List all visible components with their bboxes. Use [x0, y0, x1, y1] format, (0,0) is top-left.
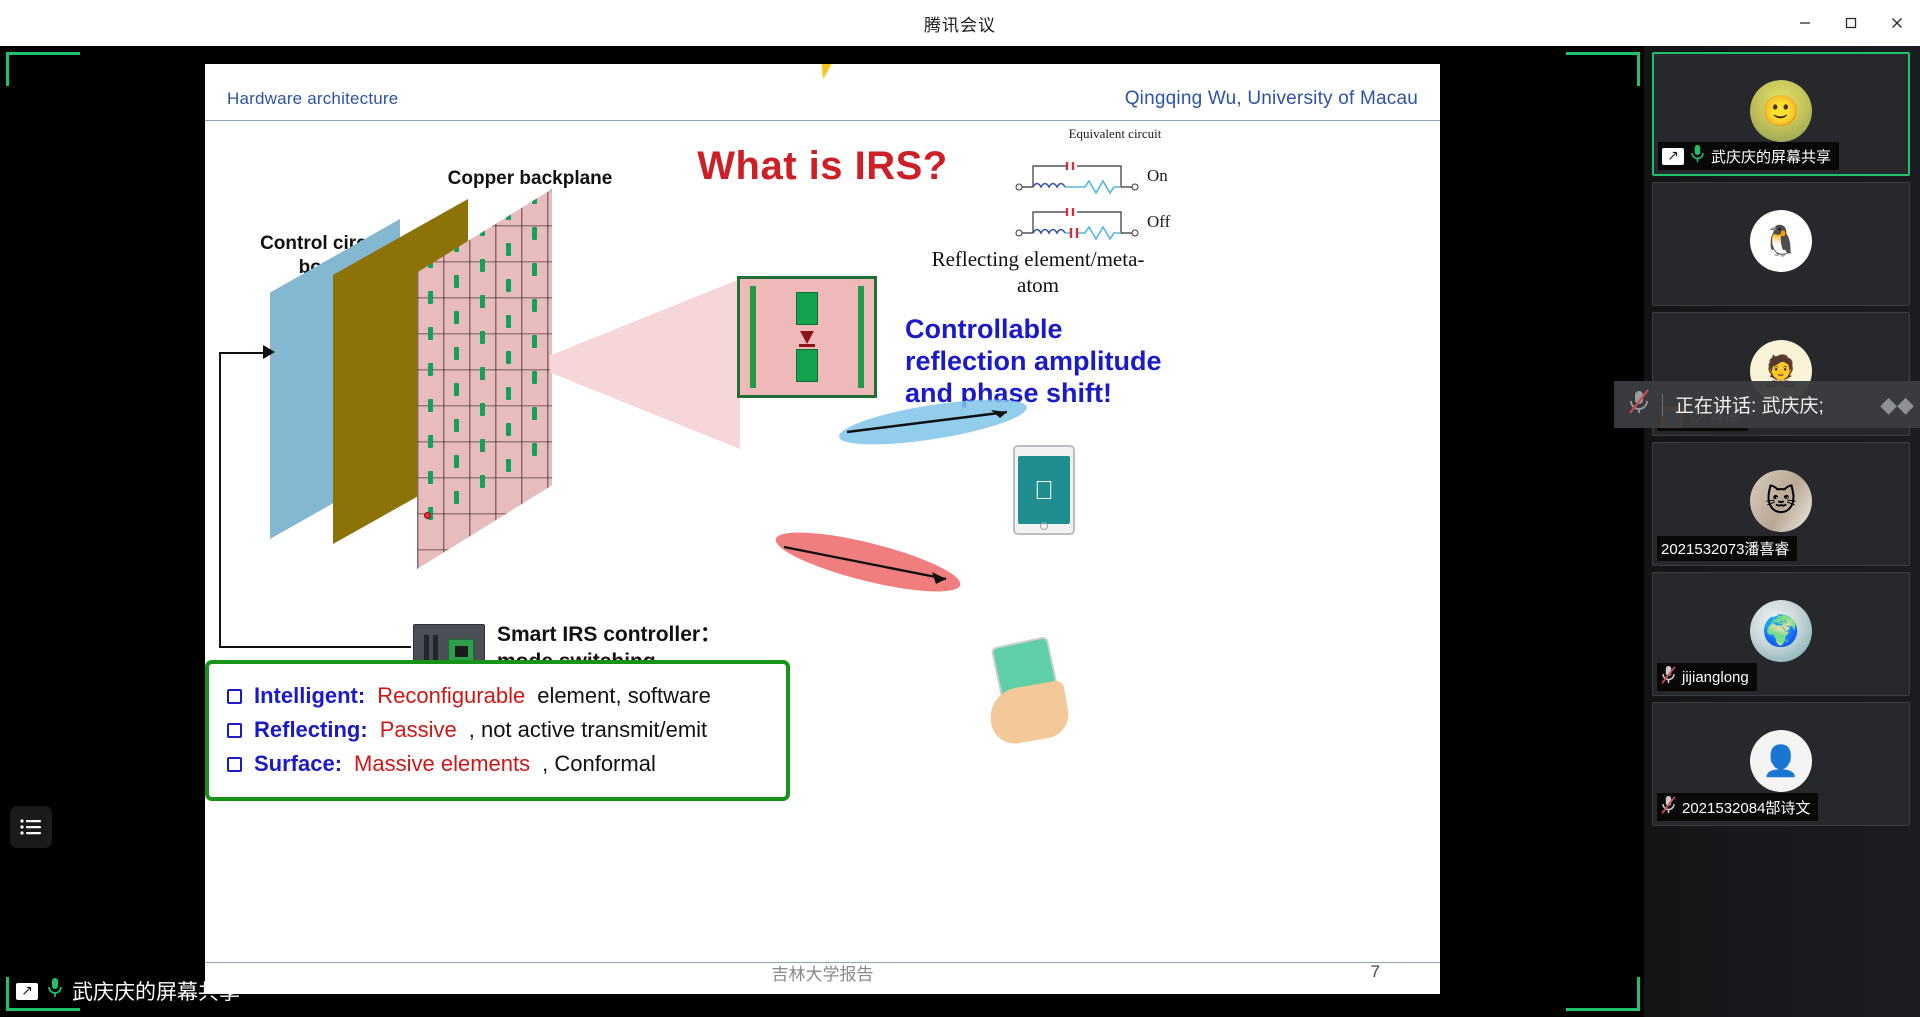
tablet-home-button-icon: [1040, 522, 1048, 530]
participant-label: jijianglong: [1657, 663, 1757, 691]
zoom-cone: [550, 279, 740, 449]
participant-tile[interactable]: 🌍jijianglong: [1652, 572, 1910, 696]
bullet-key: Surface:: [254, 747, 342, 781]
bullet-row: Surface: Massive elements , Conformal: [227, 747, 768, 781]
avatar: 🐱: [1750, 470, 1812, 532]
slide-title: What is IRS?: [205, 144, 1440, 189]
participant-name: jijianglong: [1682, 669, 1749, 686]
laser-pointer-icon: [814, 64, 838, 82]
label-copper-backplane: Copper backplane: [405, 167, 655, 191]
slide-footer: 吉林大学报告 7: [205, 962, 1440, 972]
frame-corner-top-right: [1566, 52, 1640, 86]
participant-tile[interactable]: 🙂武庆庆的屏幕共享: [1652, 52, 1910, 176]
avatar-glyph: 👤: [1750, 730, 1812, 792]
toast-divider: [1662, 394, 1663, 416]
label-reflecting-element: Reflecting element/meta-atom: [923, 246, 1153, 299]
speaking-toast: 正在讲话: 武庆庆; ◆◆: [1614, 381, 1920, 428]
tablet-device-icon: : [1013, 445, 1075, 535]
slide-header: Hardware architecture Qingqing Wu, Unive…: [205, 88, 1440, 121]
equivalent-circuit-title: Equivalent circuit: [1015, 126, 1215, 142]
toast-collapse-icon[interactable]: ◆◆: [1880, 392, 1914, 418]
mic-on-icon: [47, 977, 63, 1005]
avatar-glyph: 🙂: [1750, 80, 1812, 142]
frame-corner-top-left: [6, 52, 80, 86]
presentation-slide: Hardware architecture Qingqing Wu, Unive…: [205, 64, 1440, 994]
bullet-emphasis: Passive: [380, 713, 457, 747]
reflected-beam-blue: [835, 392, 1035, 452]
bullet-rest: , not active transmit/emit: [469, 713, 707, 747]
participant-tile[interactable]: 🐱2021532073潘喜睿: [1652, 442, 1910, 566]
slide-footer-text: 吉林大学报告: [205, 960, 1440, 985]
participant-label: 2021532084郜诗文: [1657, 793, 1818, 821]
bullet-marker-icon: [227, 757, 242, 772]
bullet-rest: , Conformal: [542, 747, 656, 781]
avatar: 🐧: [1750, 210, 1812, 272]
slide-header-right: Qingqing Wu, University of Macau: [1125, 88, 1418, 110]
summary-bullet-box: Intelligent: Reconfigurable element, sof…: [205, 660, 790, 801]
maximize-button[interactable]: [1828, 0, 1874, 46]
slide-header-left: Hardware architecture: [227, 89, 398, 109]
share-status-text: 武庆庆的屏幕共享: [72, 976, 240, 1006]
avatar: 👤: [1750, 730, 1812, 792]
tablet-screen: : [1018, 456, 1070, 524]
meta-atom-pad-bottom: [796, 349, 818, 382]
meta-atom-closeup: [737, 276, 877, 398]
window-controls: [1782, 0, 1920, 46]
participant-tile[interactable]: 👤2021532084郜诗文: [1652, 702, 1910, 826]
close-button[interactable]: [1874, 0, 1920, 46]
bullet-emphasis: Massive elements: [354, 747, 530, 781]
share-status-bar: 武庆庆的屏幕共享: [6, 971, 250, 1011]
pin-diode-bar: [799, 344, 815, 347]
screen-share-icon: [16, 983, 38, 1000]
pin-diode-icon: [800, 331, 814, 344]
red-marker-dot: [424, 512, 431, 519]
bullet-marker-icon: [227, 689, 242, 704]
equivalent-circuit-on-row: On: [1015, 154, 1215, 200]
avatar-glyph: 🌍: [1750, 600, 1812, 662]
controller-wire-arrow: [263, 345, 275, 359]
participant-label: 2021532073潘喜睿: [1657, 536, 1797, 561]
screen-share-icon: [1662, 148, 1684, 165]
bullet-rest: element, software: [537, 679, 711, 713]
equivalent-circuit-off-label: Off: [1147, 212, 1170, 232]
window-title: 腾讯会议: [924, 11, 996, 36]
meeting-body: Hardware architecture Qingqing Wu, Unive…: [0, 46, 1920, 1017]
participant-name: 武庆庆的屏幕共享: [1711, 146, 1831, 167]
participants-list-button[interactable]: [10, 806, 52, 848]
mic-muted-icon: [1628, 389, 1650, 421]
bullet-marker-icon: [227, 723, 242, 738]
controller-wire-top: [219, 352, 265, 354]
participant-name: 2021532073潘喜睿: [1661, 538, 1789, 559]
mic-on-icon: [1690, 144, 1705, 168]
meta-atom-pad-top: [796, 292, 818, 325]
equivalent-circuit-off-row: Off: [1015, 200, 1215, 246]
shared-screen-stage[interactable]: Hardware architecture Qingqing Wu, Unive…: [0, 46, 1644, 1017]
meta-atom-rail-left: [750, 286, 756, 388]
frame-corner-bottom-right: [1566, 977, 1640, 1011]
avatar-glyph: 🐧: [1750, 210, 1812, 272]
mic-muted-icon: [1661, 665, 1676, 689]
list-icon: [20, 818, 42, 836]
minimize-button[interactable]: [1782, 0, 1828, 46]
bullet-emphasis: Reconfigurable: [377, 679, 525, 713]
participant-name: 2021532084郜诗文: [1682, 797, 1810, 818]
bullet-row: Reflecting: Passive , not active transmi…: [227, 713, 768, 747]
slide-page-number: 7: [1371, 962, 1380, 982]
controller-wire-vertical: [219, 352, 221, 648]
participant-tile[interactable]: 🐧: [1652, 182, 1910, 306]
bullet-key: Reflecting:: [254, 713, 368, 747]
controller-wire-horizontal: [219, 646, 411, 648]
window-titlebar: 腾讯会议: [0, 0, 1920, 46]
speaking-toast-text: 正在讲话: 武庆庆;: [1675, 391, 1824, 418]
bullet-row: Intelligent: Reconfigurable element, sof…: [227, 679, 768, 713]
bullet-key: Intelligent:: [254, 679, 365, 713]
avatar-glyph: 🐱: [1750, 470, 1812, 532]
equivalent-circuit-diagram: Equivalent circuit On: [1015, 126, 1215, 246]
participant-label: 武庆庆的屏幕共享: [1658, 142, 1839, 170]
mic-muted-icon: [1661, 795, 1676, 819]
equivalent-circuit-on-label: On: [1147, 166, 1168, 186]
participant-rail[interactable]: 🙂武庆庆的屏幕共享🐧🤵👤孙庚🐱2021532073潘喜睿🌍jijianglong…: [1644, 46, 1920, 1017]
meta-atom-rail-right: [858, 286, 864, 388]
avatar: 🙂: [1750, 80, 1812, 142]
avatar: 🌍: [1750, 600, 1812, 662]
incident-beam-red: [770, 527, 970, 597]
